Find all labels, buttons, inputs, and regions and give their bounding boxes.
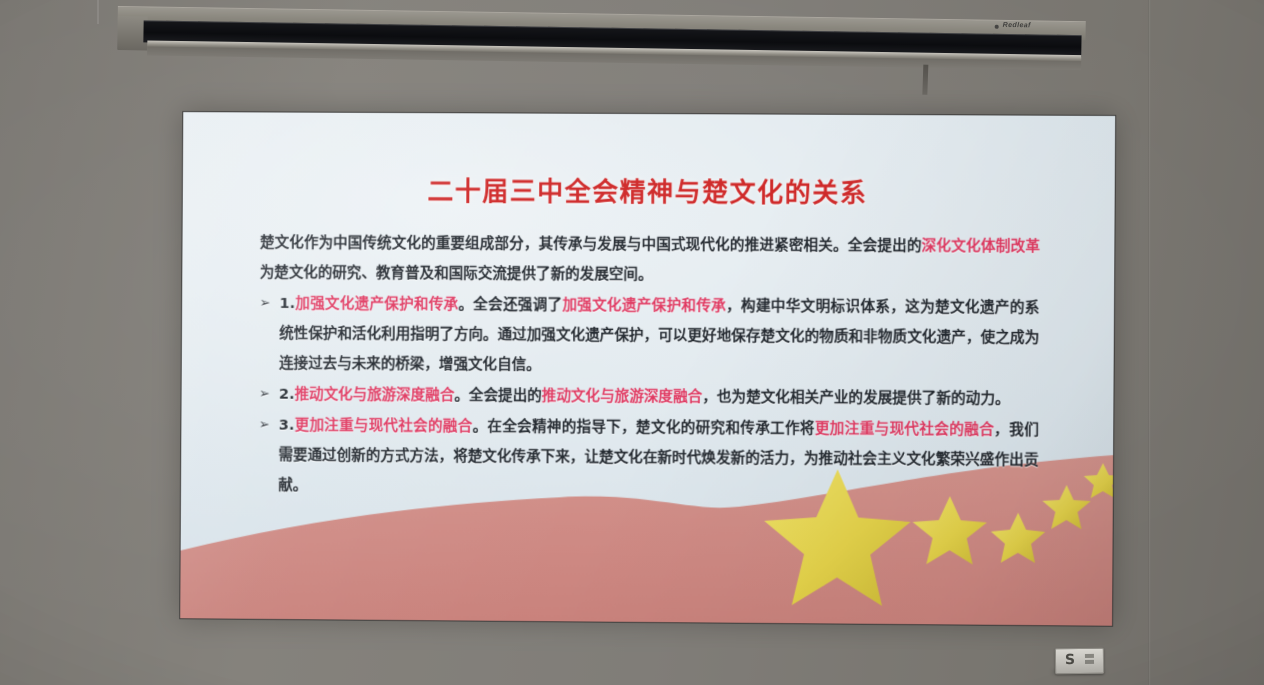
intro-highlight: 深化文化体制改革 xyxy=(922,237,1040,255)
list-item: ➢3.更加注重与现代社会的融合。在全会精神的指导下，楚文化的研究和传承工作将更加… xyxy=(258,411,1038,506)
item-rest: ，也为楚文化相关产业的发展提供了新的动力。 xyxy=(702,388,1010,407)
list-item: ➢1.加强文化遗产保护和传承。全会还强调了加强文化遗产保护和传承，构建中华文明标… xyxy=(259,289,1039,384)
item-mid-before: 。全会还强调了 xyxy=(458,296,562,314)
item-highlight: 推动文化与旅游深度融合 xyxy=(542,387,703,405)
item-number: 3. xyxy=(279,417,295,434)
slide-title: 二十届三中全会精神与楚文化的关系 xyxy=(183,170,1115,211)
projected-slide: 二十届三中全会精神与楚文化的关系 楚文化作为中国传统文化的重要组成部分，其传承与… xyxy=(180,112,1115,626)
item-heading: 更加注重与现代社会的融合 xyxy=(294,417,472,435)
item-mid-before: 。在全会精神的指导下，楚文化的研究和传承工作将 xyxy=(472,418,814,437)
item-mid-before: 。全会提出的 xyxy=(454,387,541,405)
item-heading: 加强文化遗产保护和传承 xyxy=(295,295,458,313)
item-highlight: 更加注重与现代社会的融合 xyxy=(815,420,994,438)
intro-before: 楚文化作为中国传统文化的重要组成部分，其传承与发展与中国式现代化的推进紧密相关。… xyxy=(260,234,922,254)
projector-brand-label: Redleaf xyxy=(1003,22,1031,29)
housing-drop-cord xyxy=(922,65,928,95)
intro-after: 为楚文化的研究、教育普及和国际交流提供了新的发展空间。 xyxy=(260,264,653,283)
item-heading: 推动文化与旅游深度融合 xyxy=(294,386,454,404)
wall-plate-stripes-icon xyxy=(1085,654,1094,666)
slide-body: 楚文化作为中国传统文化的重要组成部分，其传承与发展与中国式现代化的推进紧密相关。… xyxy=(258,228,1040,506)
classroom-photo: Redleaf xyxy=(0,0,1264,685)
bullet-arrow-icon: ➢ xyxy=(259,380,270,410)
bullet-arrow-icon: ➢ xyxy=(259,289,270,319)
housing-indicator-dot xyxy=(995,25,999,29)
slide-canvas: 二十届三中全会精神与楚文化的关系 楚文化作为中国传统文化的重要组成部分，其传承与… xyxy=(180,112,1115,626)
item-number: 1. xyxy=(279,295,295,312)
bullet-arrow-icon: ➢ xyxy=(259,411,270,441)
wall-plate: S xyxy=(1055,648,1104,675)
projector-screen-housing: Redleaf xyxy=(117,0,1086,77)
item-highlight: 加强文化遗产保护和传承 xyxy=(562,297,726,315)
wall-plate-label: S xyxy=(1065,652,1075,668)
item-number: 2. xyxy=(279,386,295,403)
intro-paragraph: 楚文化作为中国传统文化的重要组成部分，其传承与发展与中国式现代化的推进紧密相关。… xyxy=(260,228,1040,292)
wall-seam xyxy=(1148,0,1151,685)
list-item: ➢2.推动文化与旅游深度融合。全会提出的推动文化与旅游深度融合，也为楚文化相关产… xyxy=(259,380,1039,415)
wall-seam-left xyxy=(97,0,99,24)
